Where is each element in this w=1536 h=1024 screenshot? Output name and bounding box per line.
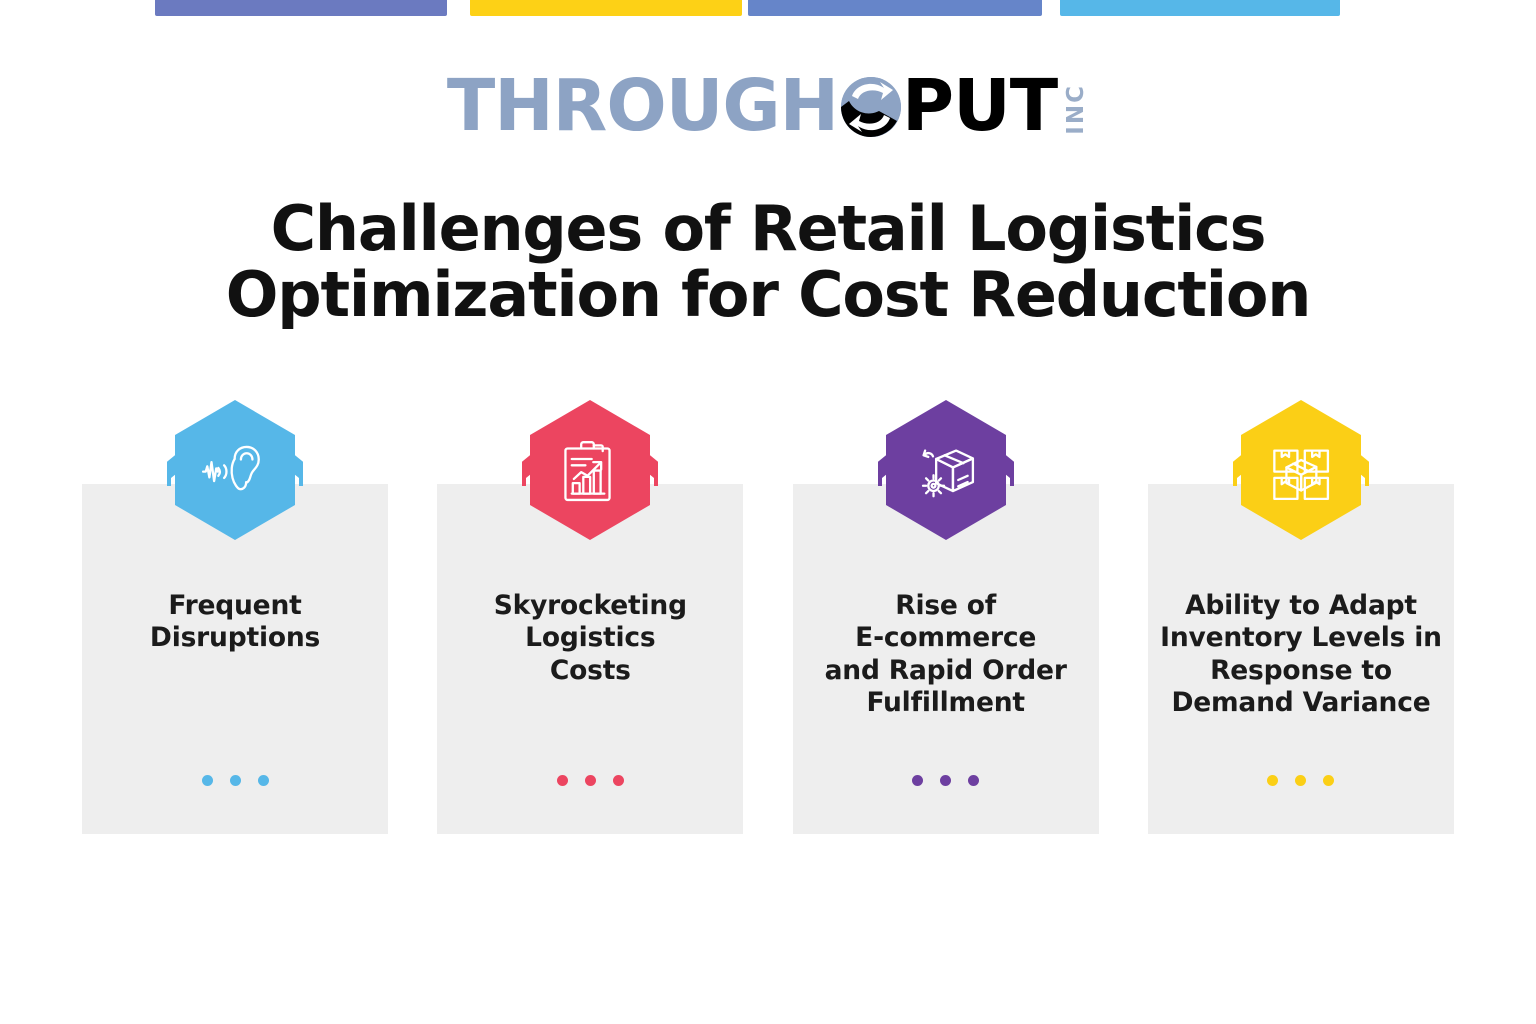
card-title: Skyrocketing Logistics Costs <box>437 590 743 687</box>
card-dot <box>1295 775 1306 786</box>
card-dot <box>940 775 951 786</box>
card-dot <box>912 775 923 786</box>
circular-arrows-globe-icon <box>835 71 907 143</box>
card-dot-group <box>437 775 743 786</box>
card-dot <box>613 775 624 786</box>
challenge-card-adapt-inventory-levels[interactable]: Ability to Adapt Inventory Levels in Res… <box>1148 404 1454 834</box>
card-dot <box>557 775 568 786</box>
card-title: Ability to Adapt Inventory Levels in Res… <box>1148 590 1454 719</box>
page-title: Challenges of Retail Logistics Optimizat… <box>0 196 1536 327</box>
challenge-cards-row: Frequent Disruptions Skyrocketing Logist… <box>82 404 1454 834</box>
card-dot <box>968 775 979 786</box>
challenge-card-rise-of-ecommerce[interactable]: Rise of E-commerce and Rapid Order Fulfi… <box>793 404 1099 834</box>
logo-word-through: THROUGH <box>447 70 838 141</box>
card-dot-group <box>793 775 1099 786</box>
card-dot <box>258 775 269 786</box>
card-hexagon-badge <box>878 398 1014 554</box>
top-cropped-bars <box>0 0 1536 18</box>
top-bar-4 <box>1060 0 1340 16</box>
card-hexagon-shape <box>886 400 1006 540</box>
top-bar-3 <box>748 0 1042 16</box>
card-hexagon-shape <box>530 400 650 540</box>
challenge-card-skyrocketing-logistics-costs[interactable]: Skyrocketing Logistics Costs <box>437 404 743 834</box>
page-title-line-1: Challenges of Retail Logistics <box>0 196 1536 262</box>
card-hexagon-badge <box>1233 398 1369 554</box>
card-title: Rise of E-commerce and Rapid Order Fulfi… <box>793 590 1099 719</box>
card-dot <box>202 775 213 786</box>
card-title: Frequent Disruptions <box>82 590 388 655</box>
logo-word-put: PUT <box>902 70 1057 141</box>
card-dot <box>1267 775 1278 786</box>
logo-suffix-inc: INC <box>1063 84 1089 135</box>
card-dot <box>1323 775 1334 786</box>
card-dot-group <box>1148 775 1454 786</box>
brand-logo: THROUGH PUT INC <box>0 62 1536 148</box>
card-hexagon-badge <box>522 398 658 554</box>
infographic-canvas: THROUGH PUT INC Challenges of Retail Log… <box>0 0 1536 1024</box>
card-dot <box>585 775 596 786</box>
card-hexagon-shape <box>1241 400 1361 540</box>
card-dot <box>230 775 241 786</box>
card-dot-group <box>82 775 388 786</box>
top-bar-1 <box>155 0 447 16</box>
card-hexagon-badge <box>167 398 303 554</box>
challenge-card-frequent-disruptions[interactable]: Frequent Disruptions <box>82 404 388 834</box>
top-bar-2 <box>470 0 742 16</box>
page-title-line-2: Optimization for Cost Reduction <box>0 262 1536 328</box>
card-hexagon-shape <box>175 400 295 540</box>
